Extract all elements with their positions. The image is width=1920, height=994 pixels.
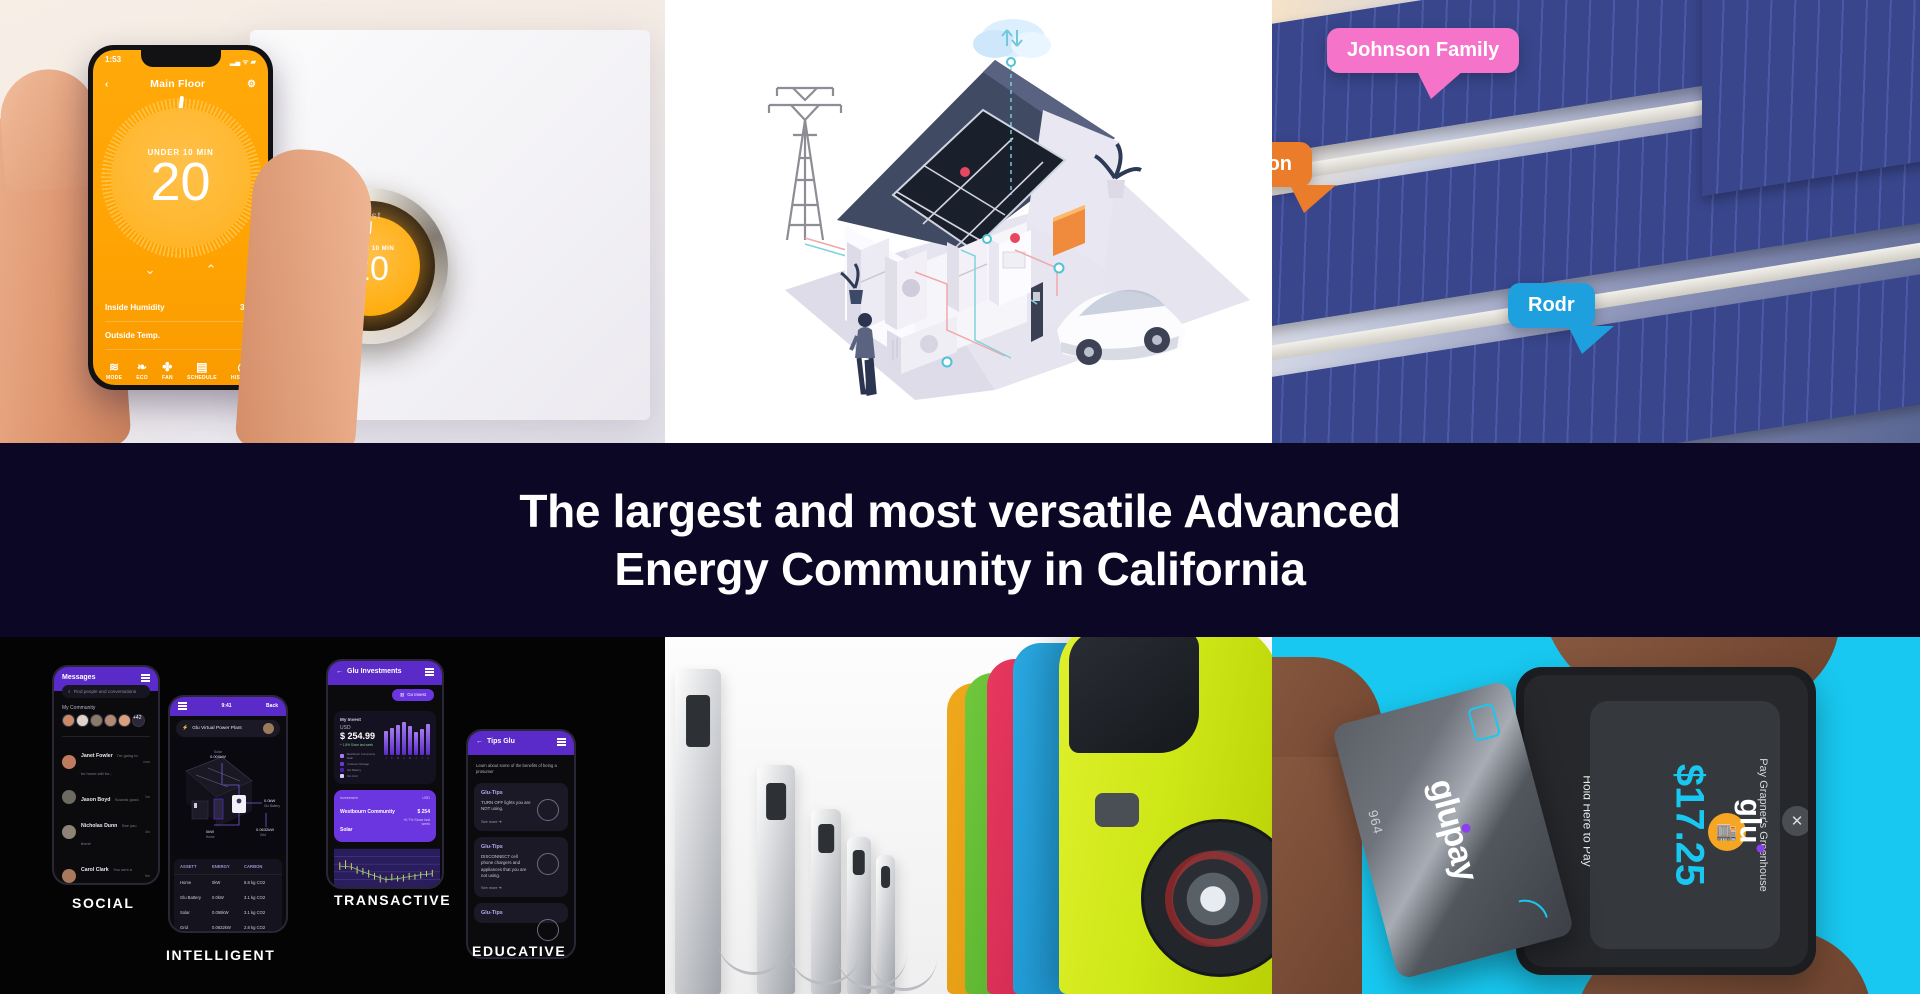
bubble-fire-station[interactable]: Fire Station — [1272, 142, 1312, 187]
cell: Home — [180, 880, 212, 885]
dial-center: UNDER 10 MIN 20 — [111, 108, 251, 248]
gear-icon[interactable]: ⚙ — [247, 79, 256, 90]
app-header: ‹ Main Floor ⚙ — [93, 74, 268, 94]
dial-temperature: 20 — [150, 155, 210, 209]
phone-mockup-intelligent: 9:41 Back ⚡ Glu Virtual Power Plant — [168, 695, 288, 933]
message-list-item[interactable]: Nicholas Dunn See you there! 4m — [54, 810, 158, 854]
chevron-down-icon[interactable]: ⌄ — [145, 262, 156, 278]
caption-transactive: TRANSACTIVE — [334, 892, 451, 908]
go-invest-button[interactable]: ▥ Go Invest — [392, 689, 434, 701]
avatar — [62, 755, 76, 769]
info-label: Inside Humidity — [105, 303, 165, 312]
amount-note: + 1.8% Since last week — [340, 743, 379, 747]
status-time: 1:53 — [105, 55, 121, 69]
bubble-johnson-family[interactable]: Johnson Family — [1327, 28, 1519, 73]
message-preview: Sounds good. — [115, 797, 140, 802]
table-row: Glu Battery 0.0kW 3.1 kg CO2 — [174, 890, 282, 905]
status-time: 9:41 — [222, 703, 232, 709]
caption-intelligent: INTELLIGENT — [166, 947, 275, 963]
plug-icon — [537, 853, 559, 875]
cell: 0.058kW — [212, 910, 244, 915]
charging-port — [1095, 793, 1139, 827]
ev-charging-photo-panel — [665, 637, 1272, 994]
svg-text:0.000kW: 0.000kW — [210, 754, 226, 759]
lightbulb-hand-icon — [537, 799, 559, 821]
invest-amount: $ 254.99 — [340, 731, 379, 741]
battery-storage-icon — [947, 236, 987, 312]
ev-charger-unit — [675, 669, 721, 994]
charging-cable-icon — [717, 815, 791, 975]
layers-icon: ≋ — [109, 361, 119, 373]
bubble-rodriguez[interactable]: Rodr — [1508, 283, 1595, 328]
column-header: ENERGY — [212, 864, 244, 869]
back-button[interactable]: Back — [266, 703, 278, 709]
invest-action-row: ▥ Go Invest — [328, 685, 442, 705]
position-amount: $ 254 — [417, 809, 430, 815]
cell: 0kW — [212, 880, 244, 885]
position-kind: Investment — [340, 796, 399, 800]
thermostat-photo-panel: 1:53 ▂▄ ᯤ ▰ ‹ Main Floor ⚙ UNDER 10 MIN … — [0, 0, 665, 443]
contact-name: Janet Fowler — [81, 753, 113, 759]
legend-item: Westbourn Community Solar — [347, 752, 379, 760]
button-label: Go Invest — [407, 692, 426, 697]
calendar-icon: ▤ — [196, 361, 208, 373]
svg-text:0.0632kW: 0.0632kW — [256, 827, 274, 832]
phone-mockup-transactive: ← Glu Investments ▥ Go Invest My Invest — [326, 659, 444, 889]
hand-reaching — [235, 146, 376, 443]
nav-item-mode[interactable]: ≋MODE — [106, 361, 122, 381]
intro-text: Learn about some of the benefits of bein… — [468, 755, 574, 778]
contactless-icon — [1518, 894, 1547, 923]
caption-social: SOCIAL — [72, 895, 135, 911]
arrow-right-icon: ➜ — [499, 820, 502, 824]
tip-tag: Glu-Tips — [481, 910, 561, 916]
message-time: 4m — [145, 830, 150, 834]
avatar[interactable] — [104, 714, 117, 727]
card-label: My Invest — [340, 717, 379, 722]
solar-roof-photo-panel: Johnson Family Fire Station Rodr — [1272, 0, 1920, 443]
tip-tag: Glu-Tips — [481, 790, 561, 796]
search-input[interactable]: ⌕ Find people and conversations — [62, 685, 150, 698]
community-avatars[interactable]: +42 — [54, 714, 158, 733]
card-brand-label: glupay — [1421, 775, 1485, 885]
home-energy-diagram: Solar 0.000kW 0.0kW Glu Battery 0kW Home… — [170, 737, 286, 855]
fan-icon: ✤ — [162, 361, 172, 373]
nav-item-schedule[interactable]: ▤SCHEDULE — [187, 361, 217, 381]
position-name: Westbourn Community Solar — [340, 809, 395, 833]
chip-icon — [1467, 702, 1501, 742]
cell: 3.1 kg CO2 — [244, 910, 276, 915]
page-root: 1:53 ▂▄ ᯤ ▰ ‹ Main Floor ⚙ UNDER 10 MIN … — [0, 0, 1920, 994]
svg-text:Glu Battery: Glu Battery — [264, 804, 280, 808]
temperature-dial[interactable]: UNDER 10 MIN 20 — [101, 98, 261, 258]
search-placeholder: Find people and conversations — [74, 689, 144, 694]
avatar[interactable] — [90, 714, 103, 727]
message-time: 1m — [145, 795, 150, 799]
tip-text: DISCONNECT cell phone chargers and appli… — [481, 854, 531, 880]
tip-card[interactable]: Glu-Tips TURN OFF lights you are NOT usi… — [474, 783, 568, 831]
avatar[interactable] — [118, 714, 131, 727]
headline-band: The largest and most versatile Advanced … — [0, 443, 1920, 637]
table-row: Grid 0.0632kW 2.8 kg CO2 — [174, 920, 282, 934]
hamburger-icon[interactable] — [425, 668, 434, 676]
leaf-icon: ❧ — [137, 361, 147, 373]
app-header: ← Tips Glu — [468, 731, 574, 755]
avatar[interactable] — [263, 723, 274, 734]
glu-brand-label: glu — [1733, 799, 1767, 844]
wheel-rim — [1173, 859, 1253, 939]
section-title: My Community — [54, 698, 158, 714]
tip-card[interactable]: Glu-Tips — [474, 903, 568, 923]
position-unit: USD — [399, 796, 430, 800]
card-last-digits: 964 — [1365, 808, 1386, 836]
app-header: 9:41 Back — [170, 697, 286, 716]
cell: Grid — [180, 925, 212, 930]
phone-mockup-educative: ← Tips Glu Learn about some of the benef… — [466, 729, 576, 959]
headline: The largest and most versatile Advanced … — [519, 482, 1400, 599]
info-label: Outside Temp. — [105, 331, 160, 340]
glupay-photo-panel: Hold Here to Pay $17.25 Pay Grapner's Gr… — [1272, 637, 1920, 994]
assets-table: ASSETT ENERGY CARBON Home 0kW 6.8 kg CO2… — [174, 859, 282, 934]
page-title: Main Floor — [150, 78, 205, 90]
search-icon: ⌕ — [68, 689, 71, 694]
hamburger-icon[interactable] — [557, 738, 566, 746]
tip-card[interactable]: Glu-Tips DISCONNECT cell phone chargers … — [474, 837, 568, 898]
temp-steppers[interactable]: ⌄ ⌃ — [93, 262, 268, 278]
table-row: Home 0kW 6.8 kg CO2 — [174, 875, 282, 890]
message-list-item[interactable]: Jason Boyd Sounds good. 1m — [54, 784, 158, 810]
contact-name: Nicholas Dunn — [81, 823, 117, 829]
car-window — [1069, 637, 1199, 753]
isometric-home-illustration — [665, 0, 1272, 443]
investment-position-card[interactable]: Investment Westbourn Community Solar USD… — [334, 790, 436, 842]
charging-cable-icon — [871, 905, 937, 991]
chart-icon: ▥ — [400, 692, 404, 698]
chevron-up-icon[interactable]: ⌃ — [206, 262, 217, 278]
page-title: Messages — [62, 674, 95, 681]
transmission-tower-icon — [769, 88, 841, 240]
info-row: Outside Temp. 3° — [105, 322, 256, 350]
nav-item-fan[interactable]: ✤FAN — [162, 361, 173, 381]
message-time: 9m — [145, 874, 150, 878]
avatar[interactable] — [62, 714, 75, 727]
cell: Solar — [180, 910, 212, 915]
table-header-row: ASSETT ENERGY CARBON — [174, 859, 282, 875]
message-time: now — [143, 760, 150, 764]
bottom-image-row: Messages ⌕ Find people and conversations… — [0, 637, 1920, 994]
legend-item: Glu Grid — [347, 774, 357, 778]
cell: 2.8 kg CO2 — [244, 925, 276, 930]
nav-label: ECO — [136, 375, 148, 381]
nav-label: SCHEDULE — [187, 375, 217, 381]
avatar — [62, 790, 76, 804]
vpp-pill[interactable]: ⚡ Glu Virtual Power Plant — [176, 720, 280, 737]
status-bar: 1:53 ▂▄ ᯤ ▰ — [93, 55, 268, 69]
info-row: Inside Humidity 30% — [105, 294, 256, 322]
table-row: Solar 0.058kW 3.1 kg CO2 — [174, 905, 282, 920]
column-header: ASSETT — [180, 864, 212, 869]
bolt-icon: ⚡ — [182, 725, 188, 731]
phone-mockup-social: Messages ⌕ Find people and conversations… — [52, 665, 160, 885]
column-header: CARBON — [244, 864, 276, 869]
divider — [62, 736, 150, 737]
glu-app-showcase-panel: Messages ⌕ Find people and conversations… — [0, 637, 665, 994]
svg-text:0.0kW: 0.0kW — [264, 798, 276, 803]
hamburger-icon[interactable] — [178, 702, 187, 710]
smart-home-diagram-panel — [665, 0, 1272, 443]
tip-tag: Glu-Tips — [481, 844, 561, 850]
appliance-icon — [537, 919, 559, 941]
price-candlestick-chart — [334, 848, 440, 888]
cell: 0.0632kW — [212, 925, 244, 930]
position-note: +0.7% Since last week — [399, 818, 430, 826]
headline-line-1: The largest and most versatile Advanced — [519, 485, 1400, 537]
message-list-item[interactable]: Janet Fowler I'm going to be home still … — [54, 740, 158, 784]
nav-label: FAN — [162, 375, 173, 381]
arrow-right-icon: ➜ — [499, 886, 502, 890]
my-invest-card: My Invest USD $ 254.99 + 1.8% Since last… — [334, 711, 436, 784]
page-title: Glu Investments — [347, 668, 401, 675]
legend-item: Yorktown Storage — [347, 762, 369, 766]
cell: 0.0kW — [212, 895, 244, 900]
svg-text:Home: Home — [206, 835, 215, 839]
hamburger-icon[interactable] — [141, 674, 150, 682]
legend-item: Glu Battery — [347, 768, 361, 772]
avatar[interactable] — [76, 714, 89, 727]
contact-name: Jason Boyd — [81, 797, 110, 803]
caption-educative: EDUCATIVE — [472, 943, 566, 959]
headline-line-2: Energy Community in California — [614, 543, 1305, 595]
nav-label: MODE — [106, 375, 122, 381]
solar-panel-row — [1702, 0, 1920, 196]
avatar — [62, 869, 76, 883]
status-icons: ▂▄ ᯤ ▰ — [230, 55, 256, 69]
investment-bar-chart — [384, 717, 430, 755]
page-title: Tips Glu — [487, 738, 515, 745]
contact-name: Carol Clark — [81, 867, 109, 873]
ev-charger-icon — [1031, 282, 1043, 342]
chevron-left-icon[interactable]: ← — [476, 738, 483, 745]
see-more-link[interactable]: See more ➜ — [481, 885, 561, 890]
avatar — [62, 825, 76, 839]
chevron-left-icon[interactable]: ← — [336, 668, 343, 675]
nav-item-eco[interactable]: ❧ECO — [136, 361, 148, 381]
cell: 3.1 kg CO2 — [244, 895, 276, 900]
top-image-row: 1:53 ▂▄ ᯤ ▰ ‹ Main Floor ⚙ UNDER 10 MIN … — [0, 0, 1920, 443]
svg-text:0kW: 0kW — [206, 829, 214, 834]
cell: Glu Battery — [180, 895, 212, 900]
chevron-left-icon[interactable]: ‹ — [105, 79, 108, 90]
close-icon[interactable]: ✕ — [1782, 806, 1808, 836]
washing-machine-icon — [885, 250, 927, 330]
svg-text:Grid: Grid — [260, 833, 266, 837]
message-list-item[interactable]: Carol Clark You sent a sticker 9m — [54, 854, 158, 886]
app-header: ← Glu Investments — [328, 661, 442, 685]
cell: 6.8 kg CO2 — [244, 880, 276, 885]
tip-text: TURN OFF lights you are NOT using. — [481, 800, 531, 813]
avatar-overflow[interactable]: +42 — [132, 714, 145, 727]
vpp-title: Glu Virtual Power Plant — [192, 726, 259, 731]
payment-amount: $17.25 — [1667, 764, 1712, 886]
cloud-upload-icon — [973, 19, 1051, 58]
